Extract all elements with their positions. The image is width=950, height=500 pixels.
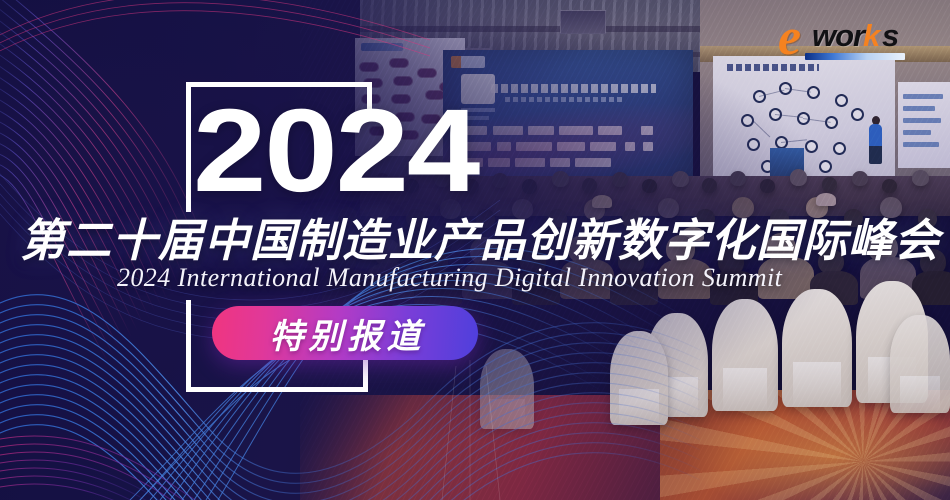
frame-left-edge <box>186 82 191 212</box>
eworks-logo[interactable]: e wor k s <box>778 16 906 60</box>
logo-letters-wor: wor <box>812 20 864 51</box>
frame-left-edge-lower <box>186 300 191 392</box>
logo-underline-bar <box>805 53 905 60</box>
page-subtitle-english: 2024 International Manufacturing Digital… <box>117 263 782 293</box>
special-report-badge-label: 特别报道 <box>265 309 426 358</box>
page-title-chinese: 第二十届中国制造业产品创新数字化国际峰会 <box>20 204 940 269</box>
logo-letter-s: s <box>882 20 899 51</box>
frame-bottom-edge <box>186 387 368 392</box>
special-report-badge[interactable]: 特别报道 <box>212 306 478 360</box>
logo-letter-k: k <box>863 20 880 51</box>
event-banner: 2024 第二十届中国制造业产品创新数字化国际峰会 2024 Internati… <box>0 0 950 500</box>
year-heading: 2024 <box>193 92 478 210</box>
logo-letter-e: e <box>778 12 801 64</box>
